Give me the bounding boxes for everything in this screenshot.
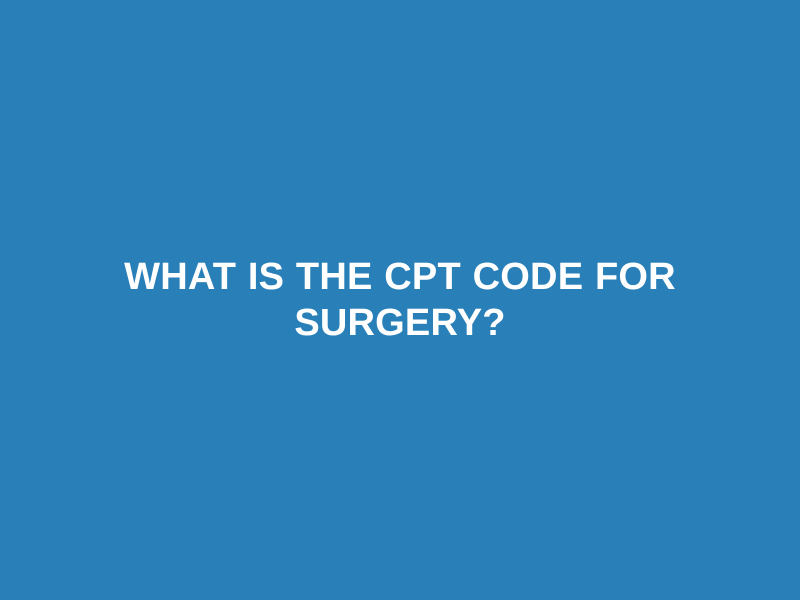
- featured-image-banner: What is the CPT Code for Surgery?: [0, 0, 800, 600]
- page-title: What is the CPT Code for Surgery?: [50, 254, 750, 346]
